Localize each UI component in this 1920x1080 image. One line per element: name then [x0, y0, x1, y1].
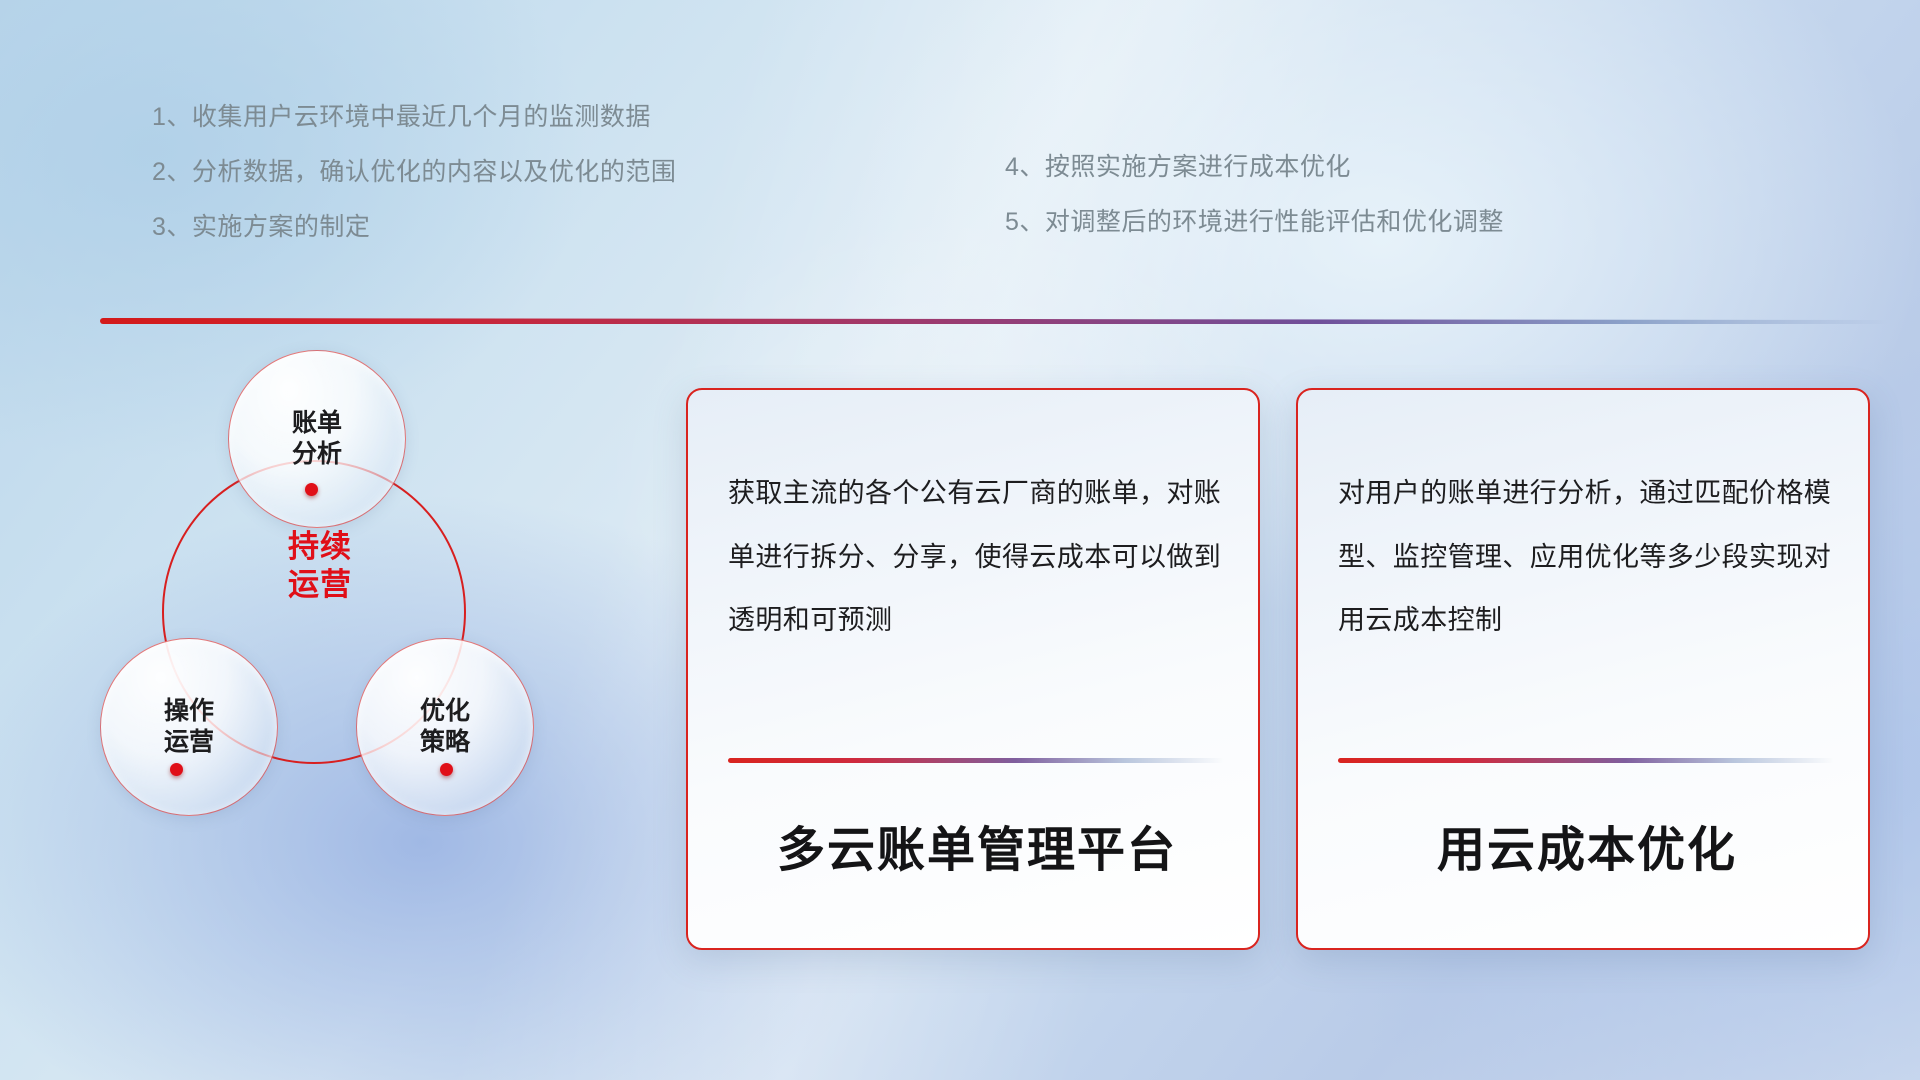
- venn-core-line1: 持续: [288, 529, 352, 564]
- step-item-5: 5、对调整后的环境进行性能评估和优化调整: [1005, 210, 1504, 235]
- venn-top-line1: 账单: [292, 409, 342, 437]
- info-card-multicloud-billing[interactable]: 获取主流的各个公有云厂商的账单，对账单进行拆分、分享，使得云成本可以做到透明和可…: [686, 388, 1260, 950]
- steps-list-right: 4、按照实施方案进行成本优化 5、对调整后的环境进行性能评估和优化调整: [1005, 155, 1504, 265]
- step-item-2: 2、分析数据，确认优化的内容以及优化的范围: [152, 160, 676, 185]
- info-card-cost-optimization[interactable]: 对用户的账单进行分析，通过匹配价格模型、监控管理、应用优化等多少段实现对用云成本…: [1296, 388, 1870, 950]
- venn-diagram: 账单 分析 操作 运营 优化 策略 持续 运营: [100, 350, 620, 950]
- steps-list-left: 1、收集用户云环境中最近几个月的监测数据 2、分析数据，确认优化的内容以及优化的…: [152, 105, 676, 270]
- card-1-title: 多云账单管理平台: [726, 810, 1228, 880]
- venn-right-line2: 策略: [420, 728, 470, 756]
- card-1-rule: [728, 758, 1224, 763]
- venn-bubble-bill-analysis[interactable]: 账单 分析: [228, 350, 406, 528]
- step-item-3: 3、实施方案的制定: [152, 215, 676, 240]
- step-item-4: 4、按照实施方案进行成本优化: [1005, 155, 1504, 180]
- venn-left-line2: 运营: [164, 728, 214, 756]
- venn-left-line1: 操作: [164, 697, 214, 725]
- venn-right-line1: 优化: [420, 697, 470, 725]
- venn-bubble-optimization-strategy[interactable]: 优化 策略: [356, 638, 534, 816]
- card-2-body: 对用户的账单进行分析，通过匹配价格模型、监控管理、应用优化等多少段实现对用云成本…: [1338, 462, 1834, 653]
- venn-top-line2: 分析: [292, 440, 342, 468]
- card-2-title: 用云成本优化: [1336, 810, 1838, 880]
- venn-core-line2: 运营: [288, 567, 352, 602]
- venn-node-left-icon: [170, 763, 183, 776]
- venn-bubble-label-top: 账单 分析: [292, 408, 342, 471]
- venn-node-top-icon: [305, 483, 318, 496]
- step-item-1: 1、收集用户云环境中最近几个月的监测数据: [152, 105, 676, 130]
- venn-bubble-label-right: 优化 策略: [420, 696, 470, 759]
- venn-bubble-label-left: 操作 运营: [164, 696, 214, 759]
- venn-bubble-operations[interactable]: 操作 运营: [100, 638, 278, 816]
- venn-core-label: 持续 运营: [235, 528, 405, 604]
- card-2-rule: [1338, 758, 1834, 763]
- venn-node-right-icon: [440, 763, 453, 776]
- card-1-body: 获取主流的各个公有云厂商的账单，对账单进行拆分、分享，使得云成本可以做到透明和可…: [728, 462, 1224, 653]
